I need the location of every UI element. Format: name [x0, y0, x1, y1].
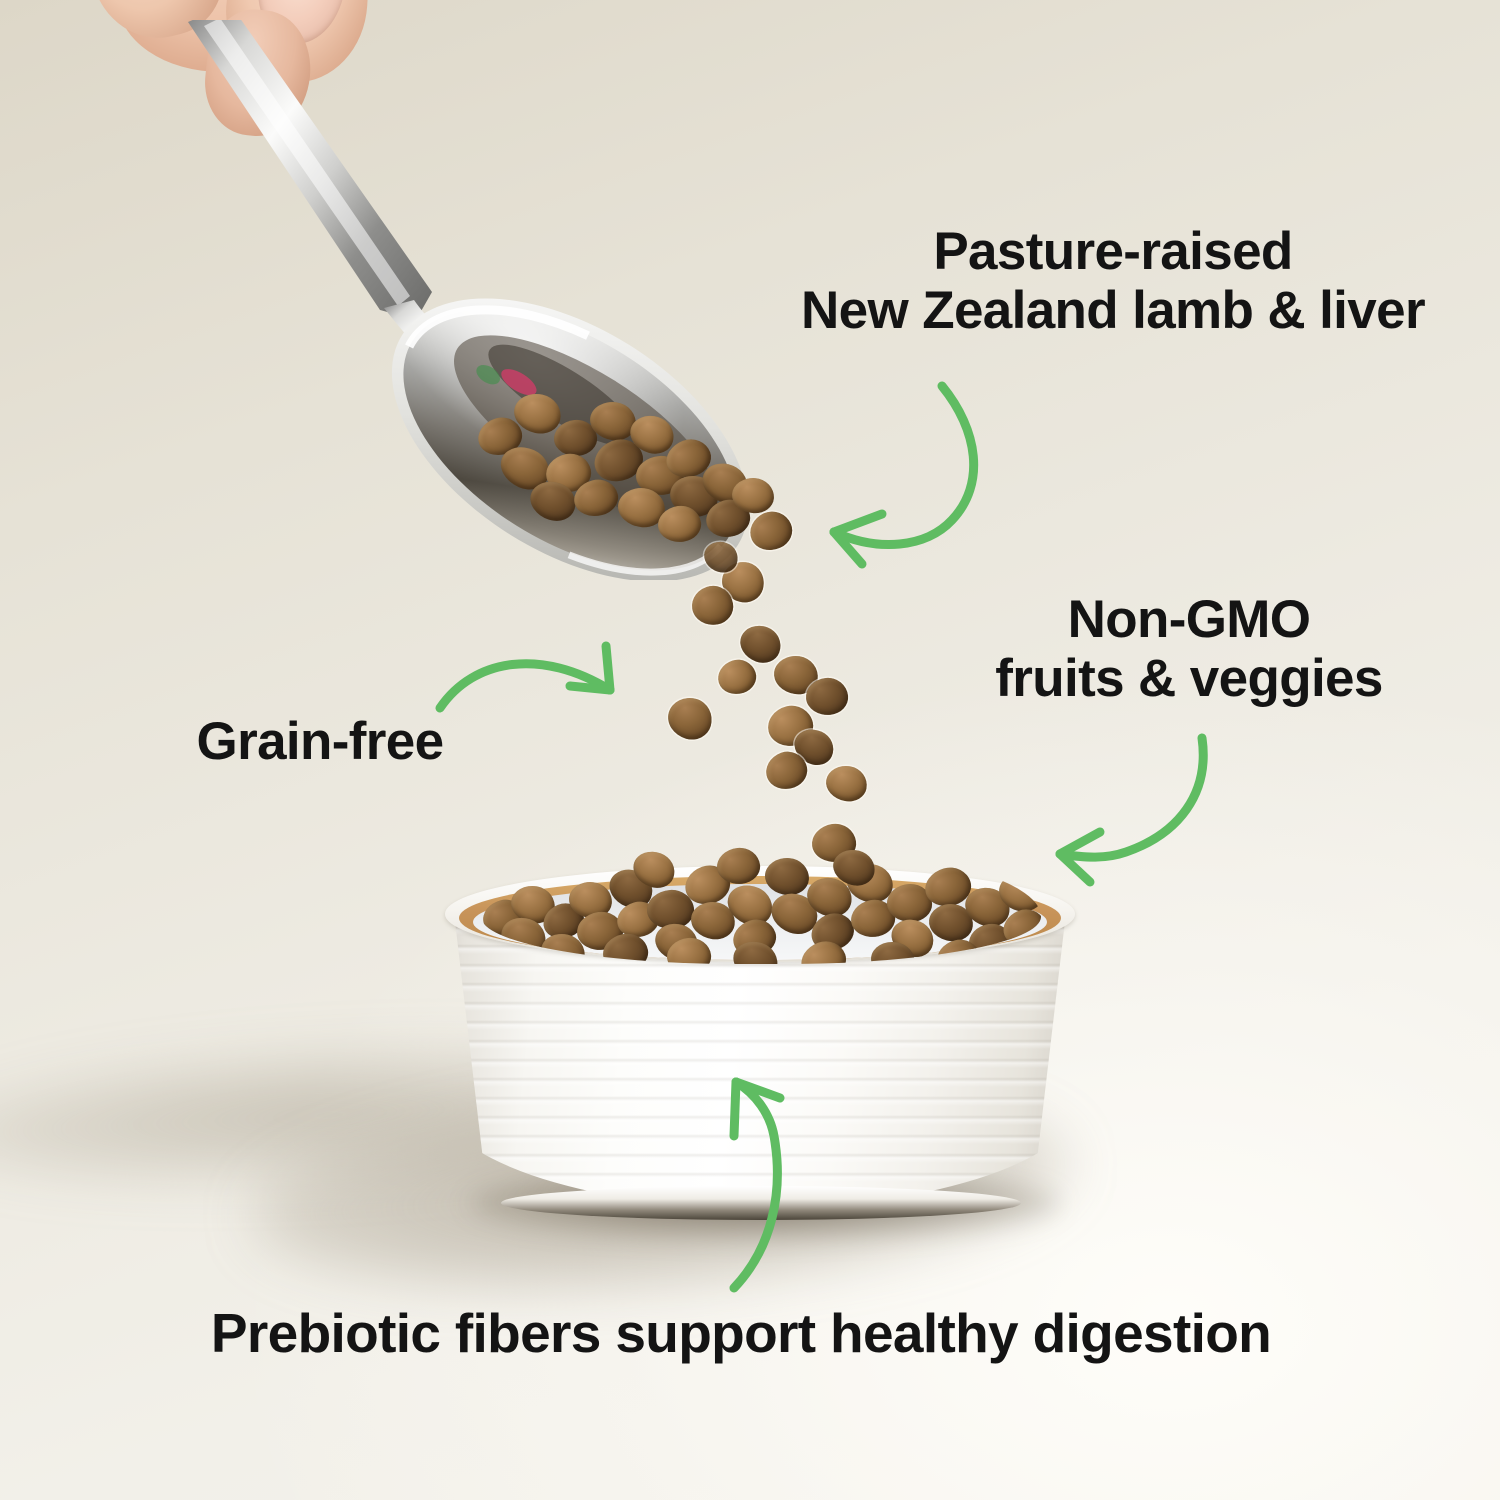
callout-pasture-raised: Pasture-raised New Zealand lamb & liver — [713, 222, 1500, 341]
arrow-pasture-raised — [800, 368, 1030, 568]
product-feature-image: Pasture-raised New Zealand lamb & liver … — [0, 0, 1500, 1500]
bowl-kibble-group — [481, 846, 1041, 964]
arrow-non-gmo — [1030, 728, 1270, 888]
callout-grain-free: Grain-free — [120, 712, 520, 771]
callout-prebiotic-fibers: Prebiotic fibers support healthy digesti… — [41, 1303, 1441, 1365]
spoon-handle-highlight — [204, 20, 410, 306]
callout-non-gmo: Non-GMO fruits & veggies — [939, 590, 1439, 709]
arrow-prebiotic — [688, 1052, 838, 1302]
